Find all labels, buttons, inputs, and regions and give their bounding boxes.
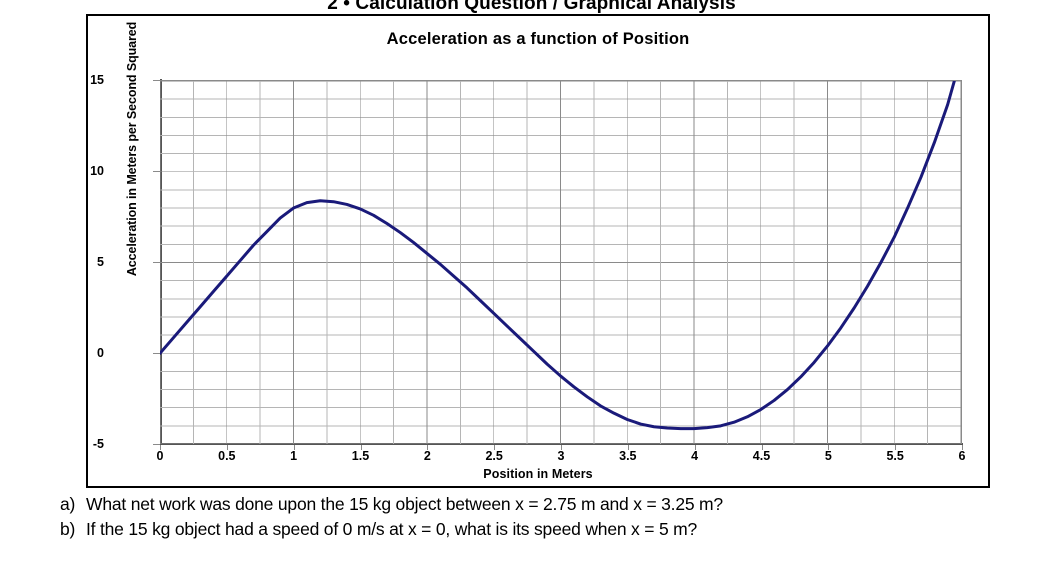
acceleration-line-chart: [160, 81, 961, 444]
question-marker: a): [60, 492, 86, 517]
y-tick-mark: [153, 262, 160, 263]
y-axis-title: Acceleration in Meters per Second Square…: [125, 4, 139, 294]
x-tick-label: 0.5: [202, 450, 252, 463]
question-marker: b): [60, 517, 86, 542]
questions-block: a) What net work was done upon the 15 kg…: [60, 492, 1050, 542]
x-axis-title: Position in Meters: [88, 467, 988, 481]
x-tick-label: 1: [269, 450, 319, 463]
question-text: What net work was done upon the 15 kg ob…: [86, 492, 1050, 517]
y-tick-label: 0: [64, 347, 104, 360]
x-tick-label: 3.5: [603, 450, 653, 463]
x-tick-label: 2.5: [469, 450, 519, 463]
chart-frame: Acceleration as a function of Position A…: [86, 14, 990, 488]
y-tick-label: 15: [64, 74, 104, 87]
x-tick-label: 5.5: [870, 450, 920, 463]
x-tick-label: 2: [402, 450, 452, 463]
page-header-text: 2 • Calculation Question / Graphical Ana…: [0, 0, 1063, 14]
y-tick-label: 5: [64, 256, 104, 269]
x-tick-label: 4: [670, 450, 720, 463]
x-tick-label: 1.5: [336, 450, 386, 463]
y-tick-mark: [153, 444, 160, 445]
plot-area: [160, 80, 962, 444]
y-tick-label: -5: [64, 438, 104, 451]
question-text: If the 15 kg object had a speed of 0 m/s…: [86, 517, 1050, 542]
x-tick-label: 0: [135, 450, 185, 463]
x-tick-label: 3: [536, 450, 586, 463]
y-tick-mark: [153, 353, 160, 354]
x-tick-label: 4.5: [737, 450, 787, 463]
question-item: b) If the 15 kg object had a speed of 0 …: [60, 517, 1050, 542]
x-tick-label: 5: [803, 450, 853, 463]
x-tick-label: 6: [937, 450, 987, 463]
y-tick-mark: [153, 171, 160, 172]
y-tick-mark: [153, 80, 160, 81]
chart-title: Acceleration as a function of Position: [88, 30, 988, 49]
question-item: a) What net work was done upon the 15 kg…: [60, 492, 1050, 517]
y-tick-label: 10: [64, 165, 104, 178]
